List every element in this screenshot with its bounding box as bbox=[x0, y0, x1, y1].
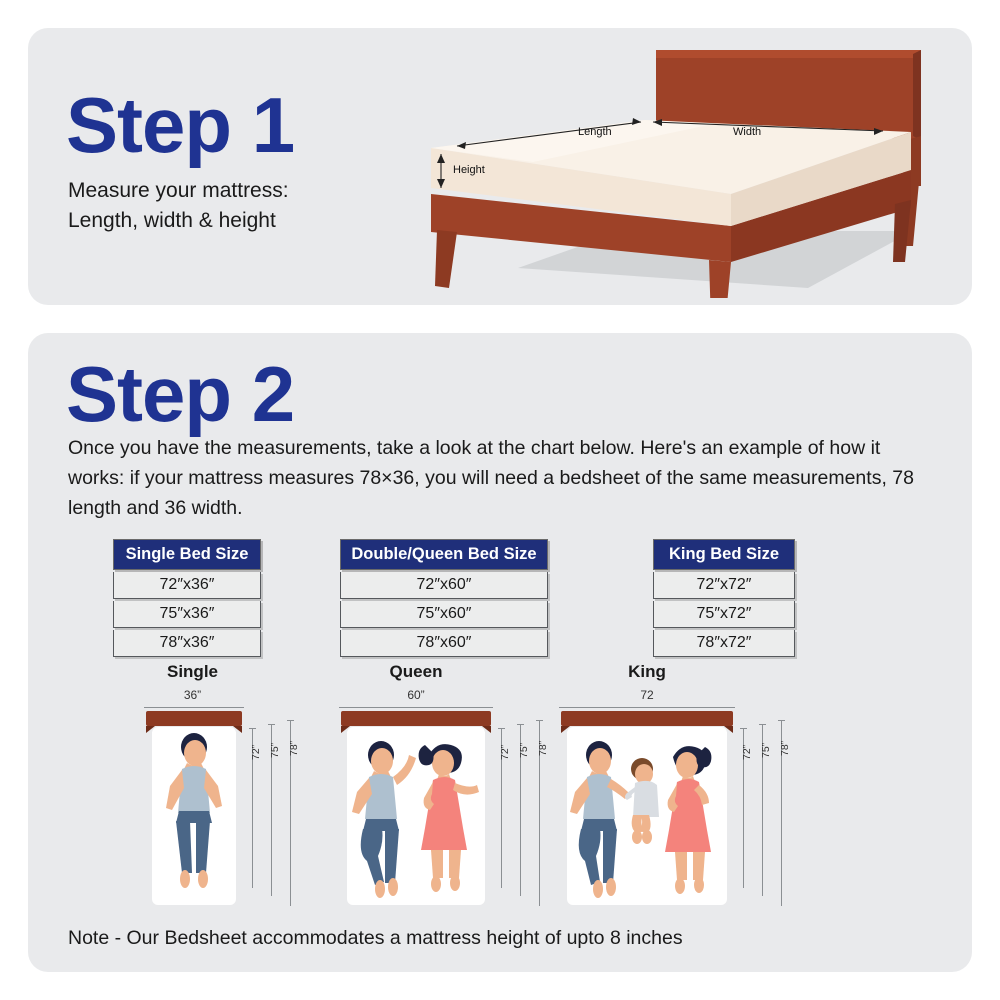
queen-occupants bbox=[347, 727, 485, 905]
step1-title: Step 1 bbox=[66, 86, 294, 164]
bed-svg bbox=[413, 36, 963, 298]
length-mark-75: 75” bbox=[269, 743, 281, 758]
step2-body-text: Once you have the measurements, take a l… bbox=[68, 433, 928, 524]
length-tick-78 bbox=[778, 720, 785, 721]
bed-diagram-single-label: Single bbox=[140, 662, 245, 682]
table-king-bed-size: King Bed Size 72″x72″ 75″x72″ 78″x72″ bbox=[653, 539, 795, 657]
length-mark-75: 75” bbox=[518, 743, 530, 758]
table-row: 75″x60″ bbox=[340, 601, 548, 628]
table-row: 78″x72″ bbox=[653, 630, 795, 657]
person-baby bbox=[625, 758, 659, 844]
bed-diagram-queen-label: Queen bbox=[337, 662, 495, 682]
bed-queen-width-label: 60” bbox=[337, 688, 495, 702]
person-adult-woman bbox=[665, 746, 711, 894]
step1-subtitle-line2: Length, width & height bbox=[68, 206, 398, 236]
table-row: 75″x36″ bbox=[113, 601, 261, 628]
step2-title: Step 2 bbox=[66, 355, 294, 433]
king-occupants bbox=[567, 727, 727, 905]
person-adult-man bbox=[152, 727, 236, 905]
table-row: 78″x36″ bbox=[113, 630, 261, 657]
length-mark-75: 75” bbox=[760, 743, 772, 758]
length-tick-72 bbox=[740, 728, 747, 729]
length-tick-78 bbox=[287, 720, 294, 721]
table-king-header: King Bed Size bbox=[653, 539, 795, 570]
length-tick-75 bbox=[517, 724, 524, 725]
footer-note: Note - Our Bedsheet accommodates a mattr… bbox=[68, 927, 683, 950]
length-tick-78 bbox=[536, 720, 543, 721]
infographic-page: Step 1 Measure your mattress: Length, wi… bbox=[0, 0, 1000, 1000]
table-row: 78″x60″ bbox=[340, 630, 548, 657]
table-row: 72″x60″ bbox=[340, 572, 548, 599]
width-rule bbox=[339, 707, 493, 708]
length-mark-72: 72” bbox=[741, 745, 753, 760]
step1-subtitle-line1: Measure your mattress: bbox=[68, 176, 398, 206]
bed-king-width-label: 72 bbox=[557, 688, 737, 702]
bed-diagram-queen: Queen 60” bbox=[337, 662, 542, 910]
headboard bbox=[341, 711, 491, 726]
bed-length-label: Length bbox=[578, 126, 612, 138]
mattress-surface bbox=[347, 727, 485, 905]
person-adult-man bbox=[570, 741, 629, 898]
person-adult-woman bbox=[419, 744, 479, 892]
table-single-header: Single Bed Size bbox=[113, 539, 261, 570]
length-mark-78: 78” bbox=[779, 741, 791, 756]
bed-diagram-king: King 72 bbox=[557, 662, 797, 910]
table-double-queen-bed-size: Double/Queen Bed Size 72″x60″ 75″x60″ 78… bbox=[340, 539, 548, 657]
bed-single-width-label: 36” bbox=[140, 688, 245, 702]
table-single-bed-size: Single Bed Size 72″x36″ 75″x36″ 78″x36″ bbox=[113, 539, 261, 657]
table-row: 75″x72″ bbox=[653, 601, 795, 628]
headboard bbox=[146, 711, 242, 726]
person-adult-man bbox=[352, 741, 416, 898]
bed-height-label: Height bbox=[453, 164, 485, 176]
length-tick-75 bbox=[268, 724, 275, 725]
bed-diagram-king-label: King bbox=[557, 662, 737, 682]
mattress-surface bbox=[152, 727, 236, 905]
bed-diagram-single: Single 36” 72” 75” bbox=[140, 662, 310, 910]
bed-illustration: Length Width Height bbox=[413, 36, 963, 298]
mattress-surface bbox=[567, 727, 727, 905]
length-mark-72: 72” bbox=[499, 745, 511, 760]
length-mark-78: 78” bbox=[537, 741, 549, 756]
width-rule bbox=[559, 707, 735, 708]
table-double-header: Double/Queen Bed Size bbox=[340, 539, 548, 570]
length-tick-72 bbox=[498, 728, 505, 729]
length-mark-78: 78” bbox=[288, 741, 300, 756]
step1-subtitle: Measure your mattress: Length, width & h… bbox=[68, 176, 398, 237]
table-row: 72″x36″ bbox=[113, 572, 261, 599]
bed-width-label: Width bbox=[733, 126, 761, 138]
width-rule bbox=[144, 707, 244, 708]
table-row: 72″x72″ bbox=[653, 572, 795, 599]
step1-card: Step 1 Measure your mattress: Length, wi… bbox=[28, 28, 972, 305]
length-mark-72: 72” bbox=[250, 745, 262, 760]
length-tick-75 bbox=[759, 724, 766, 725]
length-tick-72 bbox=[249, 728, 256, 729]
headboard bbox=[561, 711, 733, 726]
